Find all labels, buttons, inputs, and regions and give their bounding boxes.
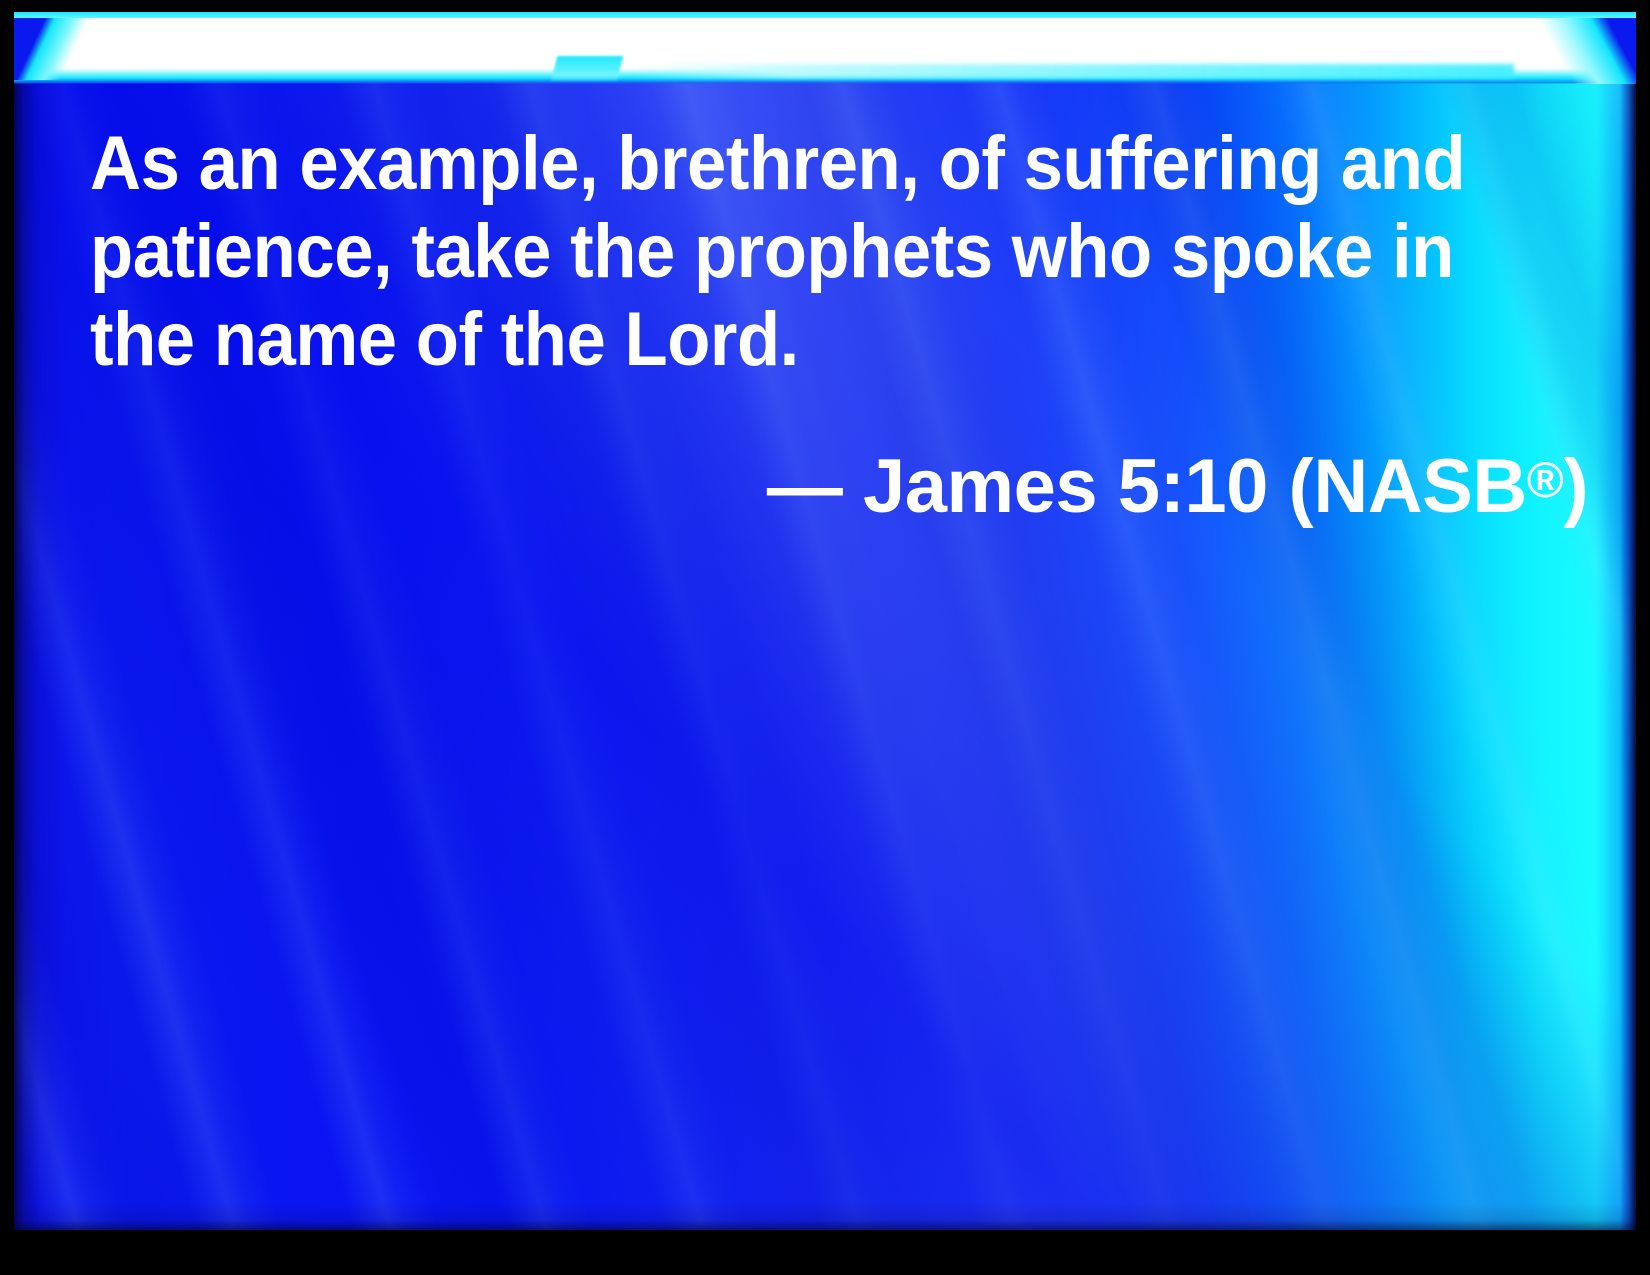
attribution-open-paren: (	[1289, 444, 1314, 529]
attribution-space-2	[1097, 444, 1118, 529]
attribution-close-paren: )	[1563, 444, 1588, 529]
attribution-em-dash: —	[767, 444, 843, 529]
attribution-reference: 5:10	[1118, 444, 1268, 529]
attribution-space-1	[842, 444, 863, 529]
verse-slide: As an example, brethren, of suffering an…	[0, 0, 1650, 1275]
attribution-space-3	[1268, 444, 1289, 529]
attribution-translation: NASB	[1313, 444, 1526, 529]
verse-line-2: patience, take the prophets who spoke in	[90, 208, 1504, 296]
attribution-book: James	[863, 444, 1097, 529]
slide-canvas: As an example, brethren, of suffering an…	[14, 12, 1636, 1230]
verse-line-3: the name of the Lord.	[90, 296, 1504, 384]
verse-text-block: As an example, brethren, of suffering an…	[90, 120, 1610, 531]
verse-attribution: — James 5:10 (NASB®)	[90, 436, 1610, 531]
registered-trademark-icon: ®	[1527, 452, 1563, 508]
verse-line-1: As an example, brethren, of suffering an…	[90, 120, 1504, 208]
